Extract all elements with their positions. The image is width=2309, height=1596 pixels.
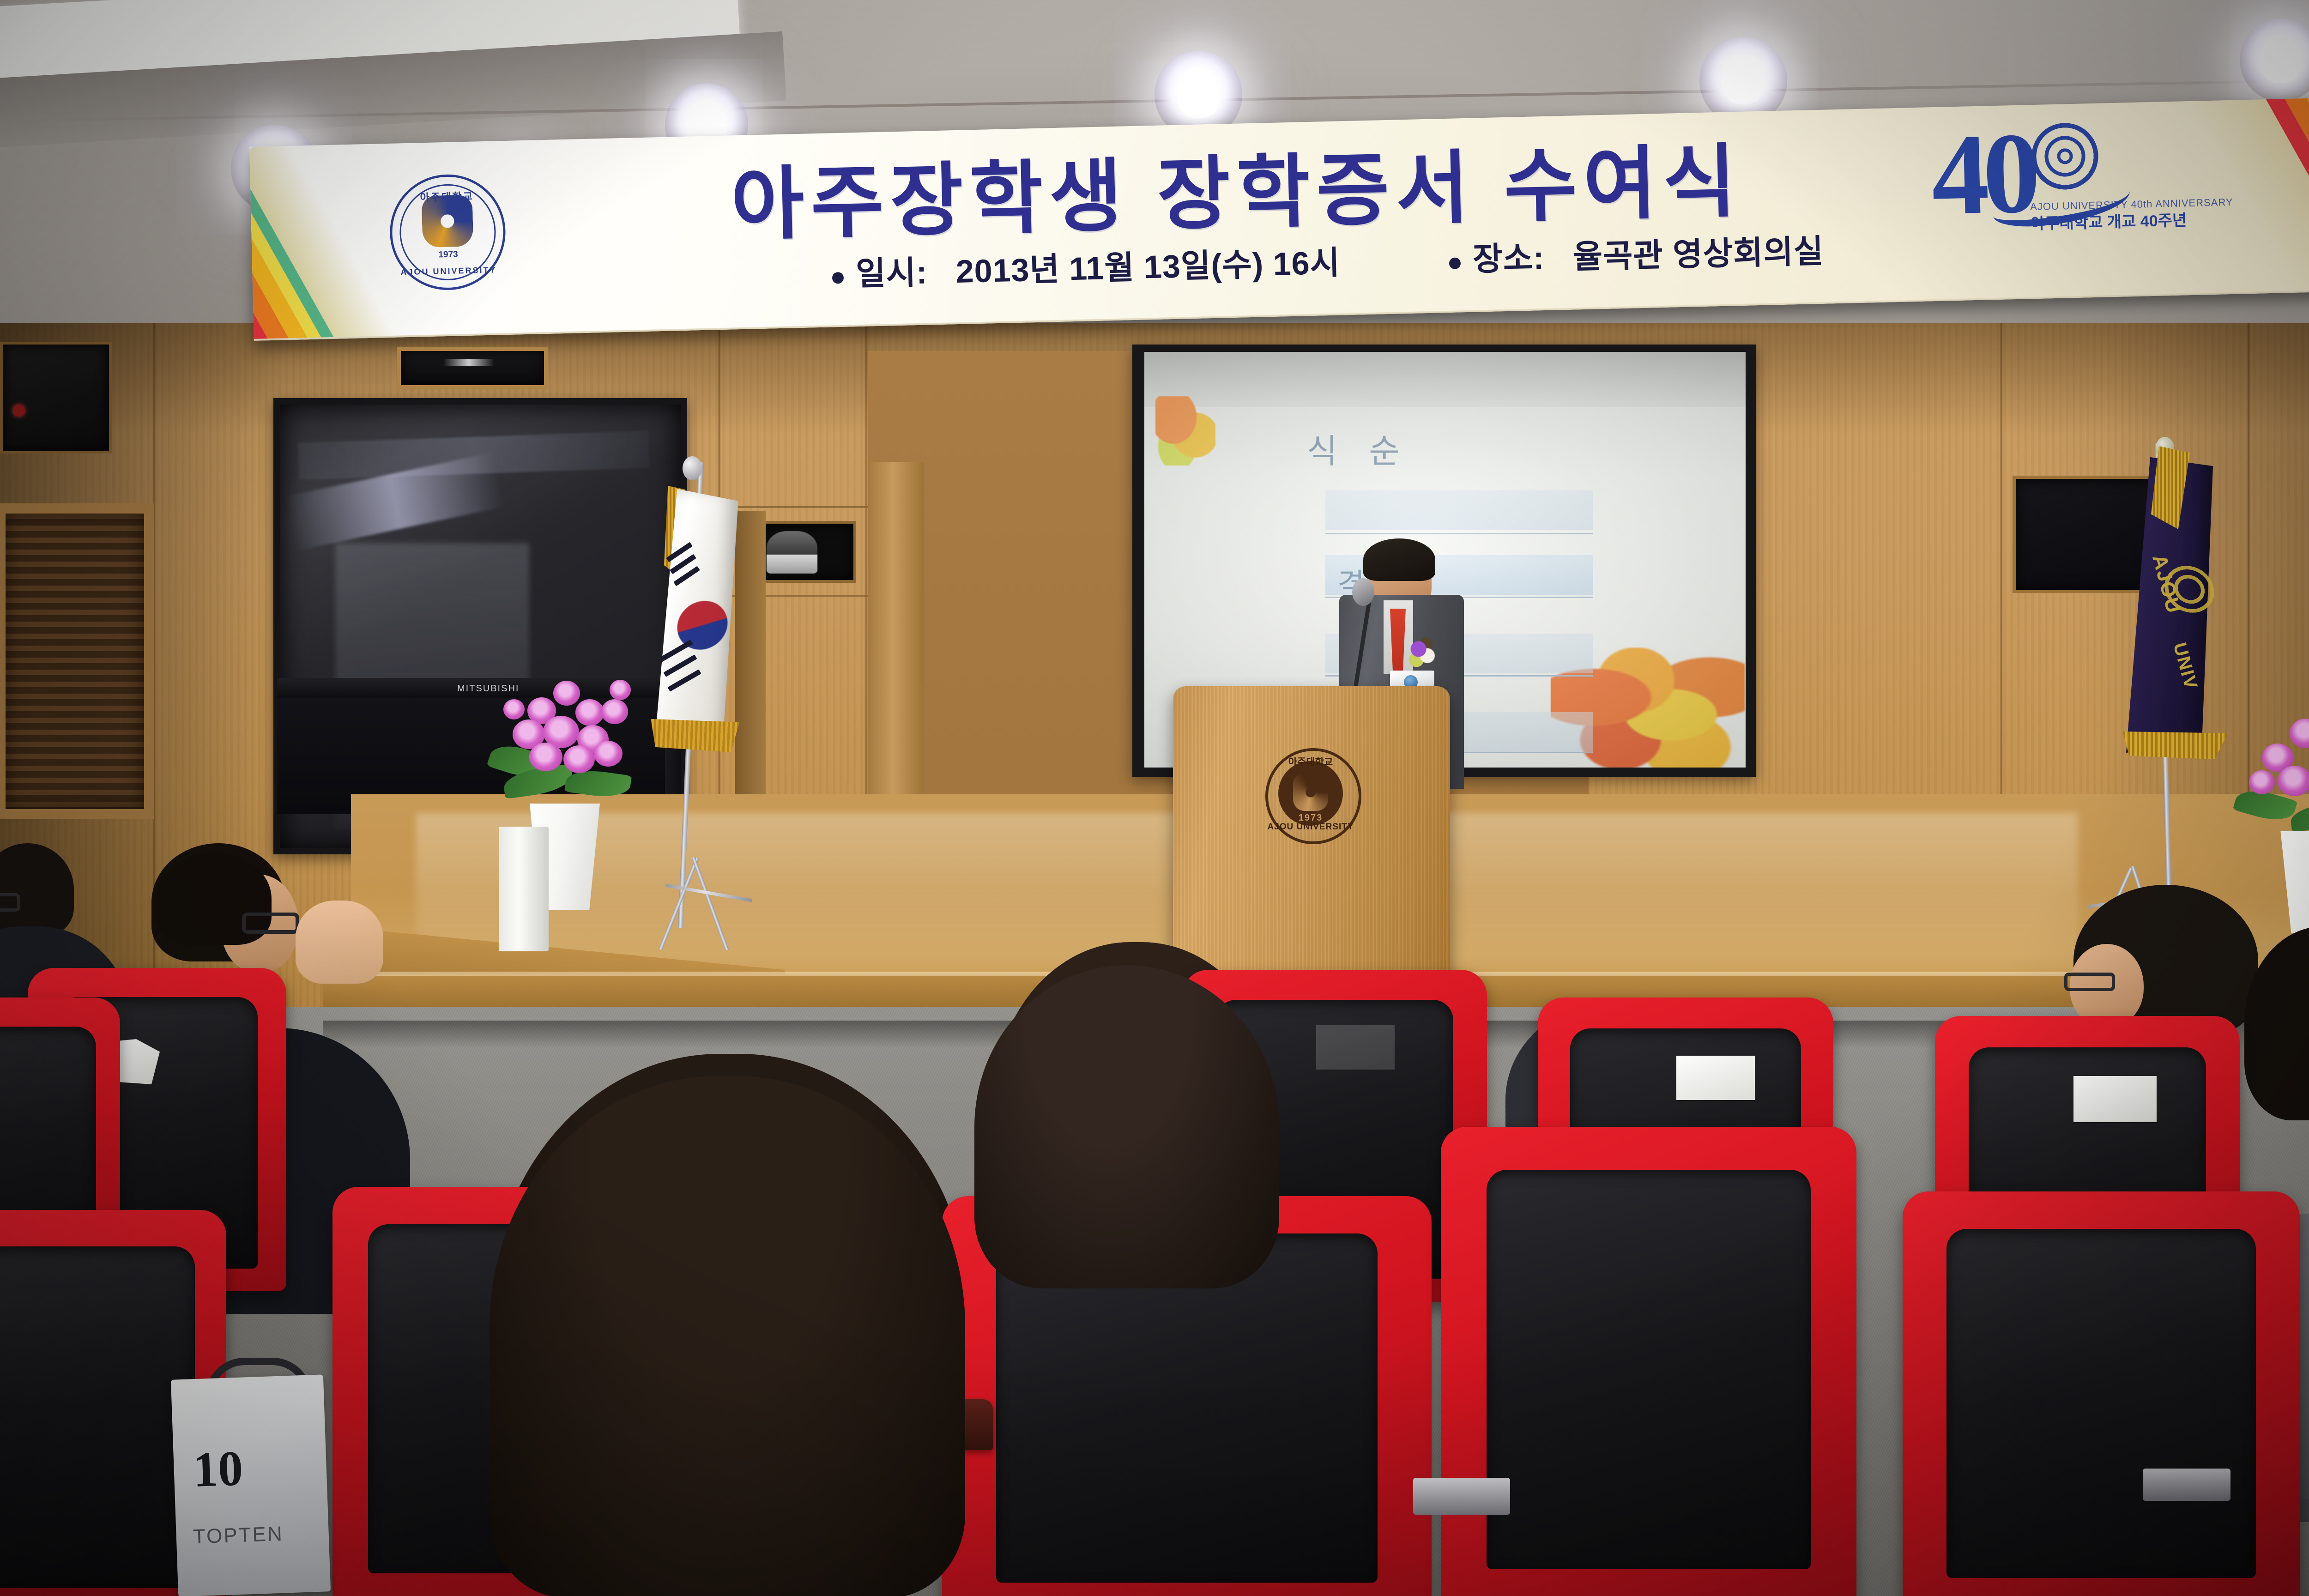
flag-finial-icon: [683, 456, 702, 480]
auditorium-seat[interactable]: [1441, 1127, 1856, 1596]
eyeglasses-icon: [242, 913, 299, 934]
flag-fringe: [2121, 731, 2228, 759]
door-frame: [868, 462, 924, 822]
flower-arrangement: [2235, 688, 2309, 845]
lectern: [1173, 686, 1450, 1010]
audience-hair: [490, 1076, 965, 1596]
seat-number-label: [1676, 1056, 1755, 1100]
banner-place-value: 율곡관 영상회의실: [1572, 233, 1824, 275]
eyeglasses-icon: [0, 893, 20, 912]
flower-arrangement: [485, 655, 647, 821]
eyeglasses-icon: [2064, 973, 2115, 991]
speaker-hair: [1363, 538, 1435, 581]
lectern-seal-mark-icon: [1293, 774, 1328, 811]
tote-bag-brand-text: TOPTEN: [193, 1523, 284, 1549]
wall-speaker-icon: [0, 342, 112, 453]
banner-place-label: 장소:: [1472, 240, 1545, 278]
anniversary-korean-text: 아주대학교 개교 40주년: [2030, 207, 2187, 234]
lectern-seal-english-text: AJOU UNIVERSITY: [1265, 822, 1356, 832]
seat-number-label: [1316, 1025, 1395, 1070]
door-recess: [735, 511, 766, 810]
seat-armrest-bracket: [2143, 1469, 2230, 1501]
university-seal-icon: 아주대학교 1973 AJOU UNIVERSITY: [389, 173, 507, 291]
niche-object: [767, 531, 817, 574]
downlight-icon: [1722, 58, 1765, 104]
seat-number-label: [2073, 1076, 2157, 1122]
tote-bag-logo: 10: [192, 1440, 244, 1499]
bullet-icon: ●: [1446, 247, 1464, 277]
banner-date-value: 2013년 11월 13일(수) 16시: [955, 244, 1341, 290]
wall-louver-vent: [0, 503, 154, 819]
seat-armrest-bracket: [1413, 1478, 1510, 1515]
flag-fringe: [646, 719, 739, 753]
lectern-seal-korean-text: 아주대학교: [1265, 755, 1356, 768]
audience-hand: [296, 901, 383, 984]
downlight-icon: [1177, 72, 1220, 118]
bose-speaker-icon: [397, 347, 548, 389]
bose-brand-label: [443, 359, 494, 366]
audience-hair: [974, 965, 1279, 1288]
bullet-icon: ●: [829, 261, 847, 292]
microphone-icon: [1352, 578, 1374, 606]
stage-pillar: [499, 827, 549, 951]
banner-date-label: 일시:: [855, 254, 928, 292]
downlight-icon: [2260, 39, 2302, 83]
auditorium-photo: 아주대학교 1973 AJOU UNIVERSITY 아주장학생 장학증서 수여…: [0, 0, 2309, 1596]
corsage-icon: [1405, 636, 1439, 670]
auditorium-seat[interactable]: [1903, 1191, 2300, 1596]
seal-korean-text: 아주대학교: [391, 187, 502, 205]
anniversary-logo: 40 AJOU UNIVERSITY 40th ANNIVERSARY 아주대학…: [1930, 113, 2132, 256]
